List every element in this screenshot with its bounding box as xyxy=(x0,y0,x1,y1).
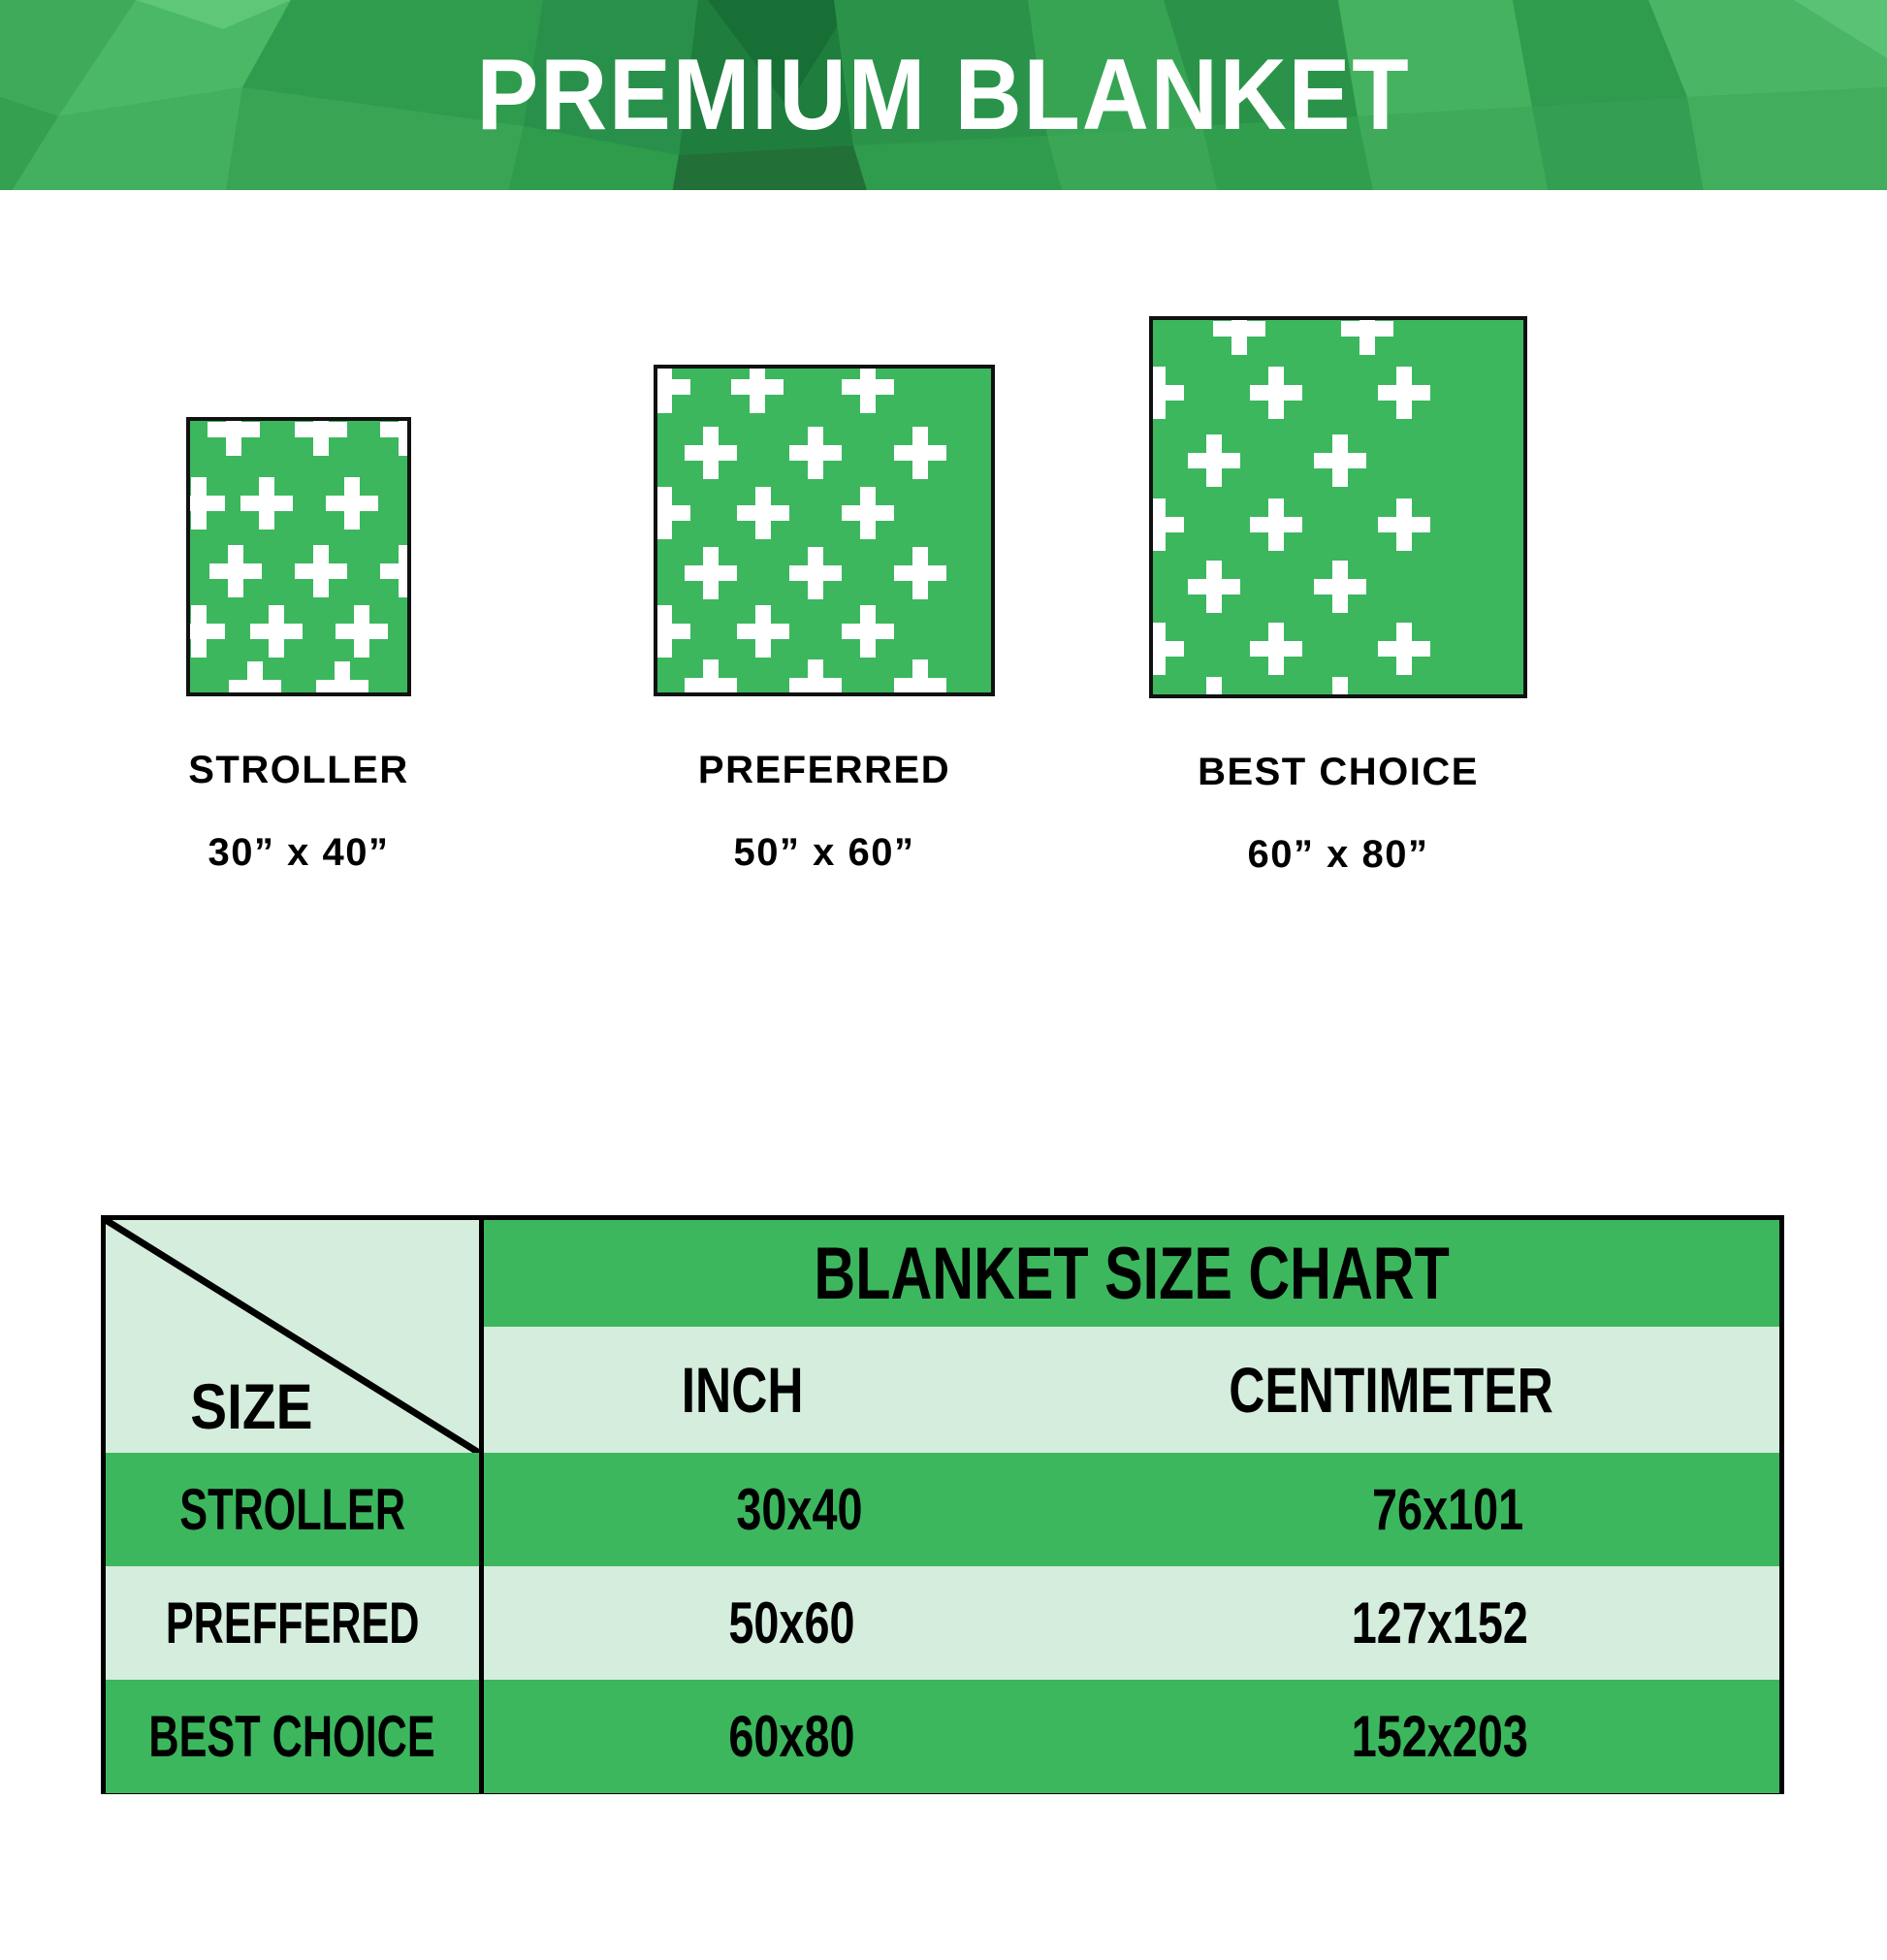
table-row[interactable]: STROLLER 30x40 76x101 xyxy=(106,1453,1779,1566)
column-header-centimeter: CENTIMETER xyxy=(1002,1327,1779,1453)
blanket-swatch-preferred xyxy=(654,365,995,696)
row-cm-stroller: 76x101 xyxy=(1115,1453,1779,1566)
cross-icon xyxy=(1341,316,1393,355)
cross-icon xyxy=(737,605,789,658)
cross-icon xyxy=(842,605,894,658)
row-cm-preffered: 127x152 xyxy=(1100,1566,1779,1680)
cross-icon xyxy=(1314,434,1366,487)
cross-icon xyxy=(654,365,690,413)
cross-icon xyxy=(209,545,262,597)
cross-icon xyxy=(1314,561,1366,613)
table-row[interactable]: BEST CHOICE 60x80 152x203 xyxy=(106,1680,1779,1793)
cross-icon xyxy=(229,661,281,696)
cross-icon xyxy=(186,477,225,530)
blanket-swatch-stroller xyxy=(186,417,411,696)
table-title: BLANKET SIZE CHART xyxy=(484,1220,1779,1327)
swatch-group-preferred: PREFERRED 50” x 60” xyxy=(601,365,1047,875)
row-size-preffered: PREFFERED xyxy=(106,1566,484,1680)
swatch-group-stroller: STROLLER 30” x 40” xyxy=(105,417,493,875)
cross-icon xyxy=(208,417,260,456)
cross-icon xyxy=(1250,623,1302,675)
cross-icon xyxy=(1188,434,1240,487)
swatch-group-best-choice: BEST CHOICE 60” x 80” xyxy=(1105,316,1571,877)
cross-pattern xyxy=(1153,320,1523,694)
cross-icon xyxy=(1314,677,1366,698)
cross-icon xyxy=(1188,561,1240,613)
row-size-best-choice: BEST CHOICE xyxy=(106,1680,484,1793)
cross-icon xyxy=(1250,367,1302,419)
page-title: PREMIUM BLANKET xyxy=(76,0,1811,190)
blanket-size-chart-table: BLANKET SIZE CHART INCH CENTIMETER STROL… xyxy=(101,1215,1784,1794)
cross-icon xyxy=(1378,498,1430,551)
swatch-dimensions-preferred: 50” x 60” xyxy=(601,831,1047,875)
cross-pattern xyxy=(190,421,407,692)
cross-icon xyxy=(1378,623,1430,675)
cross-icon xyxy=(336,605,388,658)
cross-icon xyxy=(295,417,347,456)
cross-icon xyxy=(789,547,842,599)
header-banner: PREMIUM BLANKET xyxy=(0,0,1887,209)
cross-icon xyxy=(1188,677,1240,698)
cross-icon xyxy=(894,547,946,599)
swatch-dimensions-best-choice: 60” x 80” xyxy=(1105,833,1571,877)
cross-icon xyxy=(1149,367,1184,419)
row-cm-best-choice: 152x203 xyxy=(1100,1680,1779,1793)
cross-icon xyxy=(250,605,303,658)
row-inch-best-choice: 60x80 xyxy=(484,1680,1100,1793)
cross-pattern xyxy=(657,369,991,692)
cross-icon xyxy=(789,427,842,479)
cross-icon xyxy=(240,477,293,530)
row-inch-preffered: 50x60 xyxy=(484,1566,1100,1680)
cross-icon xyxy=(685,427,737,479)
cross-icon xyxy=(1149,498,1184,551)
column-header-inch: INCH xyxy=(484,1327,1002,1453)
table-row[interactable]: PREFFERED 50x60 127x152 xyxy=(106,1566,1779,1680)
swatch-dimensions-stroller: 30” x 40” xyxy=(105,831,493,875)
cross-icon xyxy=(1378,367,1430,419)
cross-icon xyxy=(685,659,737,696)
cross-icon xyxy=(316,661,368,696)
cross-icon xyxy=(731,365,784,413)
cross-icon xyxy=(789,659,842,696)
swatch-section: STROLLER 30” x 40” xyxy=(0,209,1887,1189)
swatch-label-best-choice: BEST CHOICE xyxy=(1105,751,1571,794)
cross-icon xyxy=(842,487,894,539)
cross-icon xyxy=(685,547,737,599)
cross-icon xyxy=(654,487,690,539)
table-corner-label: SIZE xyxy=(106,1369,397,1443)
cross-icon xyxy=(326,477,378,530)
cross-icon xyxy=(842,365,894,413)
swatch-label-preferred: PREFERRED xyxy=(601,749,1047,792)
cross-icon xyxy=(654,605,690,658)
cross-icon xyxy=(894,427,946,479)
cross-icon xyxy=(186,605,225,658)
cross-icon xyxy=(1213,316,1265,355)
swatch-label-stroller: STROLLER xyxy=(105,749,493,792)
row-inch-stroller: 30x40 xyxy=(484,1453,1115,1566)
cross-icon xyxy=(894,659,946,696)
cross-icon xyxy=(737,487,789,539)
cross-icon xyxy=(1250,498,1302,551)
row-size-stroller: STROLLER xyxy=(106,1453,484,1566)
table-corner-cell: SIZE xyxy=(106,1220,484,1453)
blanket-swatch-best-choice xyxy=(1149,316,1527,698)
cross-icon xyxy=(295,545,347,597)
cross-icon xyxy=(1149,623,1184,675)
cross-icon xyxy=(380,417,411,456)
cross-icon xyxy=(380,545,411,597)
